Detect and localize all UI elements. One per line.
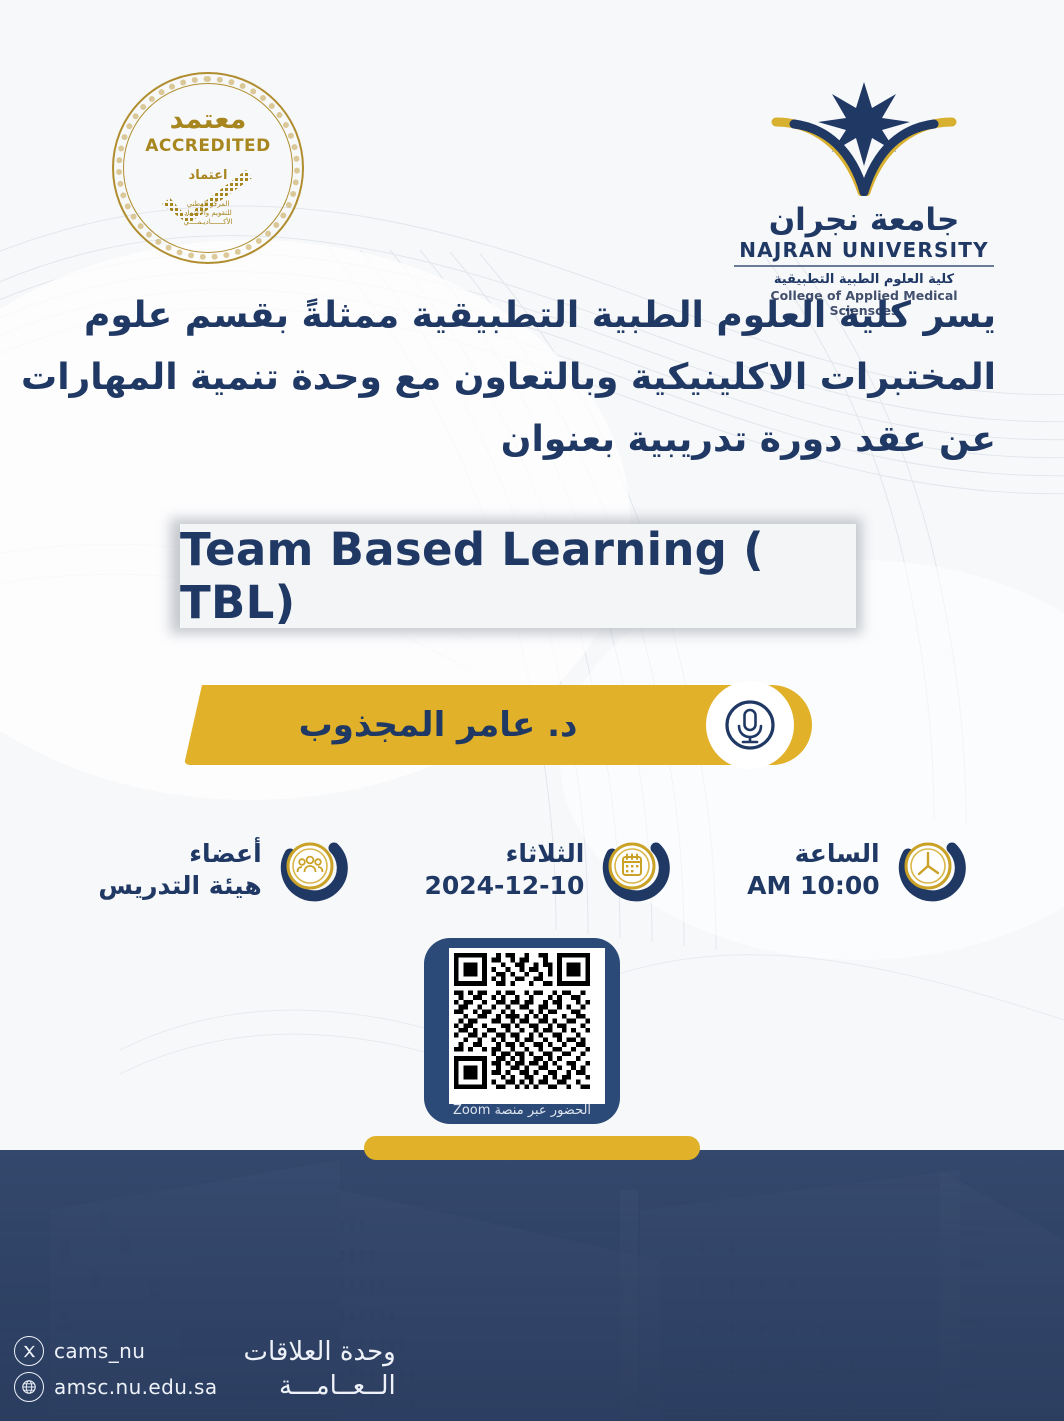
microphone-icon bbox=[724, 699, 776, 751]
date-value: 2024-12-10 bbox=[424, 869, 584, 902]
seal-etimad-wordmark: اعتماد bbox=[112, 164, 304, 183]
pr-unit-line1: وحدة العلاقات bbox=[244, 1335, 396, 1369]
university-english-name: NAJRAN UNIVERSITY bbox=[734, 238, 994, 267]
globe-website-icon bbox=[14, 1372, 44, 1402]
qr-caption: الحضور عبر منصة Zoom bbox=[424, 1103, 620, 1118]
university-arabic-name: جامعة نجران bbox=[734, 202, 994, 238]
clock-icon bbox=[894, 832, 966, 904]
qr-code-icon bbox=[454, 953, 590, 1089]
calendar-icon bbox=[598, 832, 670, 904]
info-item-date: الثلاثاء 2024-12-10 bbox=[424, 832, 670, 904]
info-text-date: الثلاثاء 2024-12-10 bbox=[424, 832, 584, 902]
seal-subtitle-line3: الأكــــــاديـمــــي bbox=[112, 218, 304, 227]
intro-line-3: عن عقد دورة تدريبية بعنوان bbox=[60, 409, 1004, 471]
info-text-time: الساعة 10:00 AM bbox=[747, 832, 880, 902]
calendar-icon-wrap bbox=[598, 832, 670, 904]
info-item-audience: أعضاء هيئة التدريس bbox=[98, 832, 347, 904]
qr-code-card[interactable]: الحضور عبر منصة Zoom bbox=[424, 938, 620, 1124]
speaker-name: د. عامر المجذوب bbox=[184, 685, 692, 765]
najran-university-emblem-icon bbox=[754, 78, 974, 196]
university-logo: جامعة نجران NAJRAN UNIVERSITY كلية العلو… bbox=[734, 78, 994, 318]
seal-subtitle-line1: المركز الوطني bbox=[112, 200, 304, 209]
speaker-band: د. عامر المجذوب bbox=[184, 685, 812, 765]
event-info-row: الساعة 10:00 AM bbox=[60, 832, 1004, 904]
course-title-card: Team Based Learning ( TBL) bbox=[180, 524, 856, 628]
gold-divider-bar bbox=[364, 1136, 700, 1160]
event-poster: معتمد ACCREDITED اعتماد المركز الوطني لل… bbox=[0, 0, 1064, 1421]
day-label: الثلاثاء bbox=[424, 838, 584, 869]
seal-subtitle-line2: للتقويم والاعتماد bbox=[112, 209, 304, 218]
clock-icon-wrap bbox=[894, 832, 966, 904]
info-text-audience: أعضاء هيئة التدريس bbox=[98, 832, 261, 902]
audience-label: أعضاء bbox=[98, 838, 261, 869]
seal-etimad-label: اعتماد bbox=[189, 168, 228, 183]
seal-arabic-label: معتمد bbox=[112, 104, 304, 135]
social-row-website[interactable]: amsc.nu.edu.sa bbox=[14, 1372, 218, 1402]
speaker-mic-badge bbox=[706, 681, 794, 769]
social-links: cams_nu amsc.nu.edu.sa bbox=[14, 1336, 218, 1402]
seal-english-label: ACCREDITED bbox=[112, 136, 304, 156]
audience-value: هيئة التدريس bbox=[98, 869, 261, 902]
intro-line-2: المختبرات الاكلينيكية وبالتعاون مع وحدة … bbox=[60, 347, 1004, 409]
intro-paragraph: يسر كلية العلوم الطبية التطبيقية ممثلةً … bbox=[60, 285, 1004, 471]
website-url: amsc.nu.edu.sa bbox=[54, 1375, 218, 1399]
intro-line-1: يسر كلية العلوم الطبية التطبيقية ممثلةً … bbox=[60, 285, 1004, 347]
people-icon-wrap bbox=[276, 832, 348, 904]
social-row-x[interactable]: cams_nu bbox=[14, 1336, 218, 1366]
x-handle: cams_nu bbox=[54, 1339, 145, 1363]
pr-unit-line2: الــعــامـــة bbox=[244, 1369, 396, 1403]
time-label: الساعة bbox=[747, 838, 880, 869]
seal-subtitle: المركز الوطني للتقويم والاعتماد الأكــــ… bbox=[112, 200, 304, 227]
info-item-time: الساعة 10:00 AM bbox=[747, 832, 966, 904]
people-group-icon bbox=[276, 832, 348, 904]
course-title: Team Based Learning ( TBL) bbox=[180, 523, 856, 629]
public-relations-unit: وحدة العلاقات الــعــامـــة bbox=[244, 1335, 396, 1403]
qr-code-image[interactable] bbox=[449, 948, 605, 1104]
footer: cams_nu amsc.nu.edu.sa وحدة العلاقات الـ… bbox=[14, 1335, 396, 1403]
x-twitter-icon bbox=[14, 1336, 44, 1366]
time-value: 10:00 AM bbox=[747, 869, 880, 902]
accreditation-seal: معتمد ACCREDITED اعتماد المركز الوطني لل… bbox=[112, 72, 304, 264]
